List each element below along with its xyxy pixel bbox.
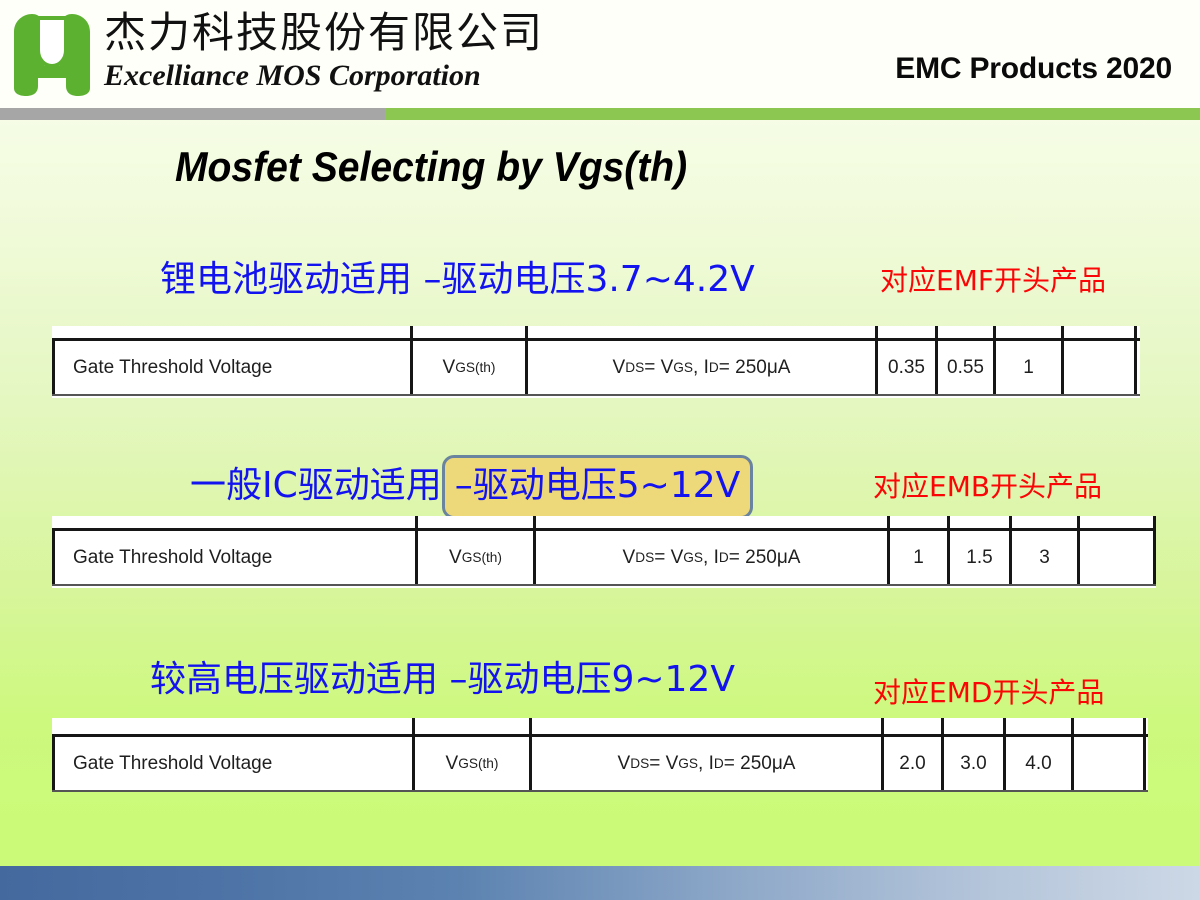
- cond-part: = 250μA: [719, 357, 791, 379]
- company-logotype: 杰力科技股份有限公司 Excelliance MOS Corporation: [104, 8, 624, 94]
- cond-sub: DS: [635, 550, 654, 565]
- header-rule-green: [385, 108, 1200, 120]
- cell-symbol: VGS(th): [418, 531, 536, 584]
- cond-part: = 250μA: [729, 547, 801, 569]
- symbol-main: V: [446, 753, 459, 775]
- symbol-sub: GS(th): [455, 360, 495, 375]
- cond-sub: D: [719, 550, 729, 565]
- cond-part: V: [623, 547, 636, 569]
- excelliance-m-logo-icon: [10, 10, 94, 98]
- symbol-main: V: [443, 357, 456, 379]
- section-heading-1: 锂电池驱动适用 –驱动电压3.7~4.2V: [160, 258, 755, 302]
- cond-part: , I: [703, 547, 719, 569]
- cond-part: = V: [654, 547, 683, 569]
- cond-sub: DS: [630, 756, 649, 771]
- datasheet-strip-1: Gate Threshold Voltage VGS(th) VDS = VGS…: [52, 326, 1140, 398]
- cell-unit: [1074, 737, 1146, 790]
- section-heading-3: 较高电压驱动适用 –驱动电压9~12V: [150, 658, 735, 702]
- section-note-2: 对应EMB开头产品: [873, 470, 1102, 504]
- cell-min: 0.35: [878, 341, 938, 394]
- company-name-en: Excelliance MOS Corporation: [104, 58, 624, 94]
- cell-typ: 3.0: [944, 737, 1006, 790]
- cell-unit: [1080, 531, 1156, 584]
- cond-part: , I: [698, 753, 714, 775]
- cell-condition: VDS = VGS, ID = 250μA: [536, 531, 890, 584]
- cond-part: = V: [649, 753, 678, 775]
- table-ghost-row: [52, 718, 1148, 734]
- cell-max: 4.0: [1006, 737, 1074, 790]
- cell-parameter: Gate Threshold Voltage: [52, 737, 415, 790]
- cell-parameter: Gate Threshold Voltage: [52, 531, 418, 584]
- section-heading-1-text: 锂电池驱动适用 –驱动电压3.7~4.2V: [160, 259, 755, 300]
- section-heading-2-highlight: –驱动电压5~12V: [442, 455, 754, 519]
- footer-bar: [0, 866, 1200, 900]
- symbol-sub: GS(th): [462, 550, 502, 565]
- cell-unit: [1064, 341, 1137, 394]
- cond-part: = 250μA: [724, 753, 796, 775]
- datasheet-strip-3: Gate Threshold Voltage VGS(th) VDS = VGS…: [52, 718, 1148, 790]
- cell-min: 2.0: [884, 737, 944, 790]
- table-row: Gate Threshold Voltage VGS(th) VDS = VGS…: [52, 528, 1156, 586]
- cond-sub: GS: [683, 550, 703, 565]
- slide-canvas: 杰力科技股份有限公司 Excelliance MOS Corporation E…: [0, 0, 1200, 900]
- section-note-3: 对应EMD开头产品: [873, 676, 1104, 710]
- company-name-cn: 杰力科技股份有限公司: [104, 8, 624, 58]
- cell-symbol: VGS(th): [413, 341, 528, 394]
- cond-part: , I: [693, 357, 709, 379]
- cond-part: V: [618, 753, 631, 775]
- cond-sub: D: [709, 360, 719, 375]
- section-note-1: 对应EMF开头产品: [880, 264, 1106, 298]
- page-title: Mosfet Selecting by Vgs(th): [175, 143, 687, 191]
- cond-sub: D: [714, 756, 724, 771]
- symbol-sub: GS(th): [458, 756, 498, 771]
- symbol-main: V: [449, 547, 462, 569]
- table-row: Gate Threshold Voltage VGS(th) VDS = VGS…: [52, 338, 1140, 396]
- section-heading-2: 一般IC驱动适用–驱动电压5~12V: [190, 455, 753, 519]
- cell-parameter: Gate Threshold Voltage: [52, 341, 413, 394]
- cell-min: 1: [890, 531, 950, 584]
- cell-condition: VDS = VGS, ID = 250μA: [528, 341, 878, 394]
- cell-typ: 1.5: [950, 531, 1012, 584]
- header-rule-gray: [0, 108, 385, 120]
- table-row: Gate Threshold Voltage VGS(th) VDS = VGS…: [52, 734, 1148, 792]
- cond-sub: GS: [678, 756, 698, 771]
- cond-sub: GS: [673, 360, 693, 375]
- header-right-title: EMC Products 2020: [895, 52, 1172, 86]
- cell-max: 3: [1012, 531, 1080, 584]
- cond-sub: DS: [625, 360, 644, 375]
- cell-typ: 0.55: [938, 341, 996, 394]
- cond-part: V: [613, 357, 626, 379]
- cond-part: = V: [644, 357, 673, 379]
- table-ghost-row: [52, 326, 1140, 338]
- datasheet-strip-2: Gate Threshold Voltage VGS(th) VDS = VGS…: [52, 516, 1156, 588]
- cell-condition: VDS = VGS, ID = 250μA: [532, 737, 884, 790]
- slide-header: 杰力科技股份有限公司 Excelliance MOS Corporation E…: [0, 0, 1200, 108]
- section-heading-3-text: 较高电压驱动适用 –驱动电压9~12V: [150, 659, 735, 700]
- cell-symbol: VGS(th): [415, 737, 532, 790]
- cell-max: 1: [996, 341, 1064, 394]
- section-heading-2-text: 一般IC驱动适用: [190, 465, 442, 506]
- table-ghost-row: [52, 516, 1156, 528]
